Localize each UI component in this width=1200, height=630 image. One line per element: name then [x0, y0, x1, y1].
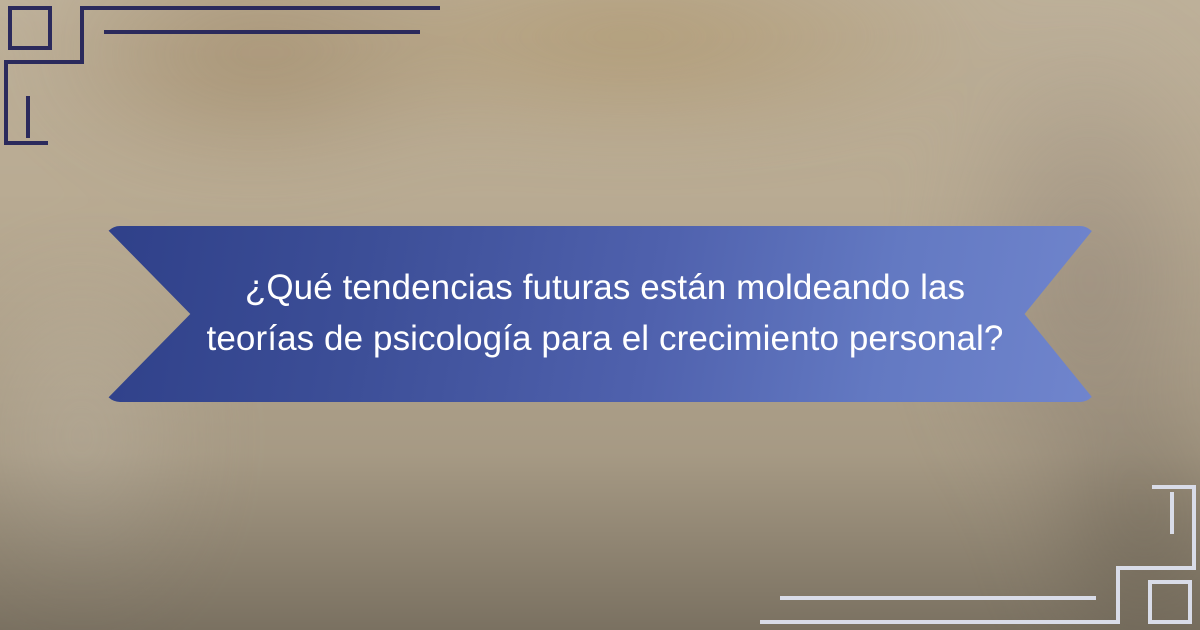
question-banner: ¿Qué tendencias futuras están moldeando … — [104, 226, 1096, 402]
ornament-line-horizontal-short — [4, 60, 84, 64]
corner-ornament-top-left — [0, 0, 200, 190]
question-line-1: ¿Qué tendencias futuras están moldeando … — [245, 263, 965, 314]
question-line-2: teorías de psicología para el crecimient… — [207, 314, 1004, 365]
ornament-line-horizontal-foot — [4, 141, 48, 145]
ornament-line-horizontal-inner — [104, 30, 420, 34]
quote-card: ¿Qué tendencias futuras están moldeando … — [0, 0, 1200, 630]
ornament-line-vertical-outer — [80, 6, 84, 64]
question-text: ¿Qué tendencias futuras están moldeando … — [104, 226, 1096, 402]
ornament-line-horizontal-short — [1116, 566, 1196, 570]
ornament-square-icon — [8, 6, 52, 50]
ornament-line-horizontal-outer — [84, 6, 440, 10]
ornament-line-horizontal-outer — [760, 620, 1116, 624]
ornament-line-horizontal-foot — [1152, 485, 1196, 489]
ornament-line-vertical-edge — [4, 60, 8, 145]
ornament-line-vertical-inner — [1170, 492, 1174, 534]
ornament-line-vertical-outer — [1116, 566, 1120, 624]
corner-ornament-bottom-right — [1000, 440, 1200, 630]
ornament-line-vertical-edge — [1192, 485, 1196, 570]
ornament-square-icon — [1148, 580, 1192, 624]
ornament-line-vertical-inner — [26, 96, 30, 138]
ornament-line-horizontal-inner — [780, 596, 1096, 600]
